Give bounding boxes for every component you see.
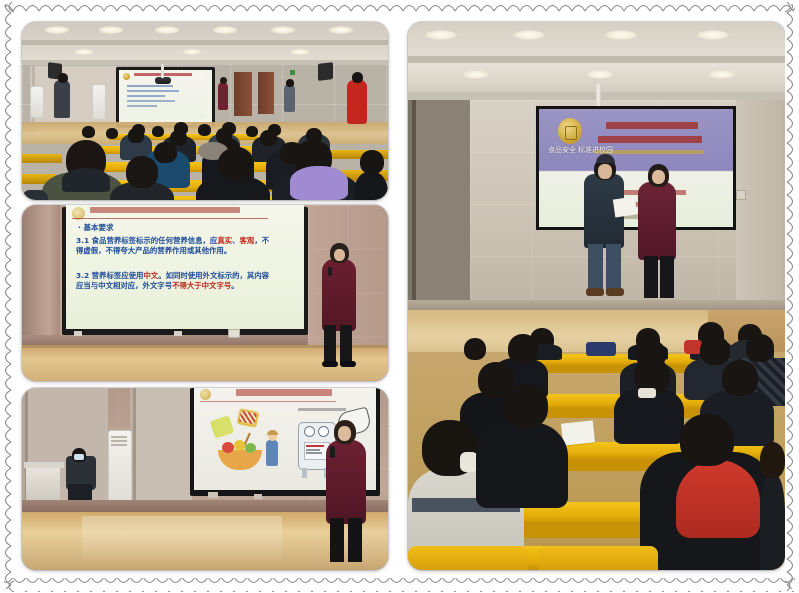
slide-heading: · 基本要求	[78, 223, 113, 233]
photo-slide-mandatory-labeling[interactable]	[22, 388, 388, 570]
ceiling-light	[462, 70, 490, 79]
ceiling-light	[270, 26, 296, 34]
slide-heading-mandatory	[236, 389, 332, 396]
person-red-jacket	[347, 80, 367, 124]
microphone-icon	[328, 267, 332, 276]
photo-2-scene: · 基本要求 3.1 食品营养标签标示的任何营养信息，应真实、客观，不得虚假，不…	[22, 205, 388, 381]
ceiling-light	[74, 49, 94, 55]
ceiling-light	[98, 26, 124, 34]
photo-3-scene	[22, 388, 388, 570]
face-mask	[74, 454, 84, 460]
photo-slide-nutrition-label[interactable]: · 基本要求 3.1 食品营养标签标示的任何营养信息，应真实、客观，不得虚假，不…	[22, 205, 388, 381]
slide-title-line-2	[598, 136, 702, 143]
purple-hood	[290, 166, 348, 200]
curtain	[130, 388, 192, 500]
photo-lecture-hall-audience[interactable]	[22, 22, 388, 200]
air-conditioner	[92, 84, 106, 120]
paper-on-desk	[561, 420, 595, 445]
door	[234, 72, 252, 116]
slide-title-line-1	[606, 122, 698, 129]
ceiling-light	[424, 30, 458, 40]
collage-canvas: · 基本要求 3.1 食品营养标签标示的任何营养信息，应真实、客观，不得虚假，不…	[0, 0, 799, 593]
ceiling-light	[512, 30, 546, 40]
official-female	[638, 182, 676, 260]
photo-1-scene	[22, 22, 388, 200]
photo-collage: · 基本要求 3.1 食品营养标签标示的任何营养信息，应真实、客观，不得虚假，不…	[0, 0, 799, 593]
ceiling-light	[586, 70, 614, 79]
ceiling-light	[182, 49, 202, 55]
ceiling-light	[328, 26, 354, 34]
paper-sheet	[613, 197, 637, 218]
projector-icon	[155, 77, 171, 84]
ceiling-light	[290, 49, 310, 55]
slide-sub-label	[298, 408, 346, 411]
ceiling-light	[154, 26, 180, 34]
ceiling-light	[696, 30, 730, 40]
microphone-icon	[330, 446, 335, 458]
air-conditioner	[30, 86, 44, 118]
presenter	[218, 82, 228, 110]
slide-bullet-3-2: 3.2 营养标签应使用中文。如同时使用外文标示的，其内容应当与中文相对应，外文字…	[76, 271, 276, 291]
slide-title-bar	[90, 207, 240, 213]
door	[258, 72, 274, 114]
ceiling-light	[212, 26, 238, 34]
slide-bullet-3-1: 3.1 食品营养标签标示的任何营养信息，应真实、客观，不得虚假，不得夸大产品的营…	[76, 236, 276, 256]
illustration-cartoon-person	[266, 440, 278, 466]
white-collar	[638, 388, 656, 398]
ceiling-speaker-icon	[318, 62, 333, 81]
curtain	[408, 100, 470, 300]
photo-4-scene: 食品安全 标准进校园	[408, 22, 785, 570]
ceiling-light	[604, 30, 638, 40]
ceiling-light	[44, 26, 70, 34]
government-emblem-icon	[200, 389, 211, 400]
photo-opening-ceremony[interactable]: 食品安全 标准进校园	[408, 22, 785, 570]
chair-back	[538, 546, 658, 570]
government-emblem-icon	[123, 73, 130, 80]
chair-back	[408, 546, 528, 570]
ceiling-light	[708, 70, 736, 79]
